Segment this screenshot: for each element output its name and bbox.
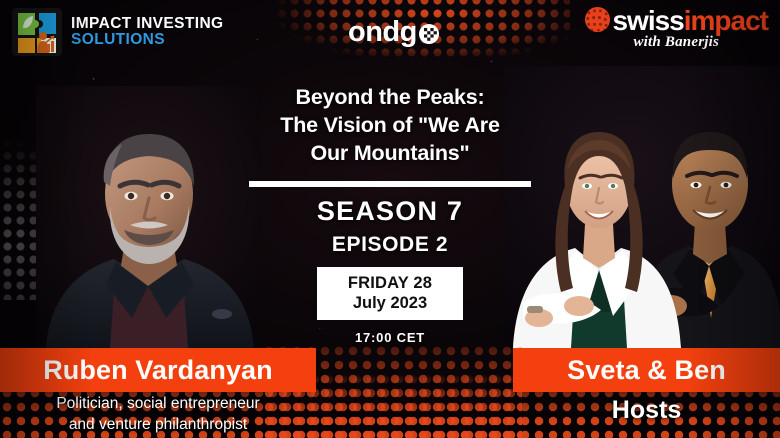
hosts-name: Sveta & Ben xyxy=(567,355,726,386)
start-time: 17:00 CET xyxy=(235,330,545,345)
logo-line-1: IMPACT INVESTING xyxy=(71,16,224,32)
episode-info-block: Beyond the Peaks: The Vision of "We Are … xyxy=(235,84,545,345)
episode-title-line-3: Our Mountains" xyxy=(235,140,545,168)
guest-name-banner: Ruben Vardanyan xyxy=(0,348,316,392)
title-divider xyxy=(249,181,531,187)
episode-title-line-1: Beyond the Peaks: xyxy=(235,84,545,112)
puzzle-pieces-icon xyxy=(12,8,62,56)
guest-role-line-1: Politician, social entrepreneur xyxy=(0,394,316,415)
swissimpact-wordmark-row: swiss impact xyxy=(584,6,768,35)
episode-label: EPISODE 2 xyxy=(235,233,545,257)
guest-role: Politician, social entrepreneur and vent… xyxy=(0,394,316,435)
guest-photo xyxy=(36,86,261,348)
hosts-photo xyxy=(505,66,780,348)
impact-investing-solutions-logo[interactable]: IMPACT INVESTING SOLUTIONS xyxy=(12,8,224,56)
hosts-role: Hosts xyxy=(513,396,780,425)
swissimpact-logo[interactable]: swiss impact with Banerjis xyxy=(584,6,768,51)
ondgo-logo[interactable]: ondg xyxy=(348,18,440,47)
impact-word: impact xyxy=(684,7,768,35)
season-label: SEASON 7 xyxy=(235,196,545,227)
episode-title: Beyond the Peaks: The Vision of "We Are … xyxy=(235,84,545,168)
hosts-name-banner: Sveta & Ben xyxy=(513,348,780,392)
date-month: July 2023 xyxy=(323,293,457,313)
guest-role-line-2: and venture philanthropist xyxy=(0,415,316,436)
impact-investing-wordmark: IMPACT INVESTING SOLUTIONS xyxy=(71,16,224,48)
globe-dots-icon xyxy=(584,6,611,33)
ondgo-wordmark: ondg xyxy=(348,18,417,47)
guest-name: Ruben Vardanyan xyxy=(43,355,273,386)
ondgo-circle-mark-icon xyxy=(418,23,440,45)
webinar-promo-poster: IMPACT INVESTING SOLUTIONS ondg xyxy=(0,0,780,438)
date-box: FRIDAY 28 July 2023 xyxy=(317,267,463,320)
date-day: FRIDAY 28 xyxy=(323,273,457,293)
swissimpact-tagline: with Banerjis xyxy=(633,34,719,51)
logo-line-2: SOLUTIONS xyxy=(71,32,224,48)
swiss-word: swiss xyxy=(612,7,683,35)
episode-title-line-2: The Vision of "We Are xyxy=(235,112,545,140)
